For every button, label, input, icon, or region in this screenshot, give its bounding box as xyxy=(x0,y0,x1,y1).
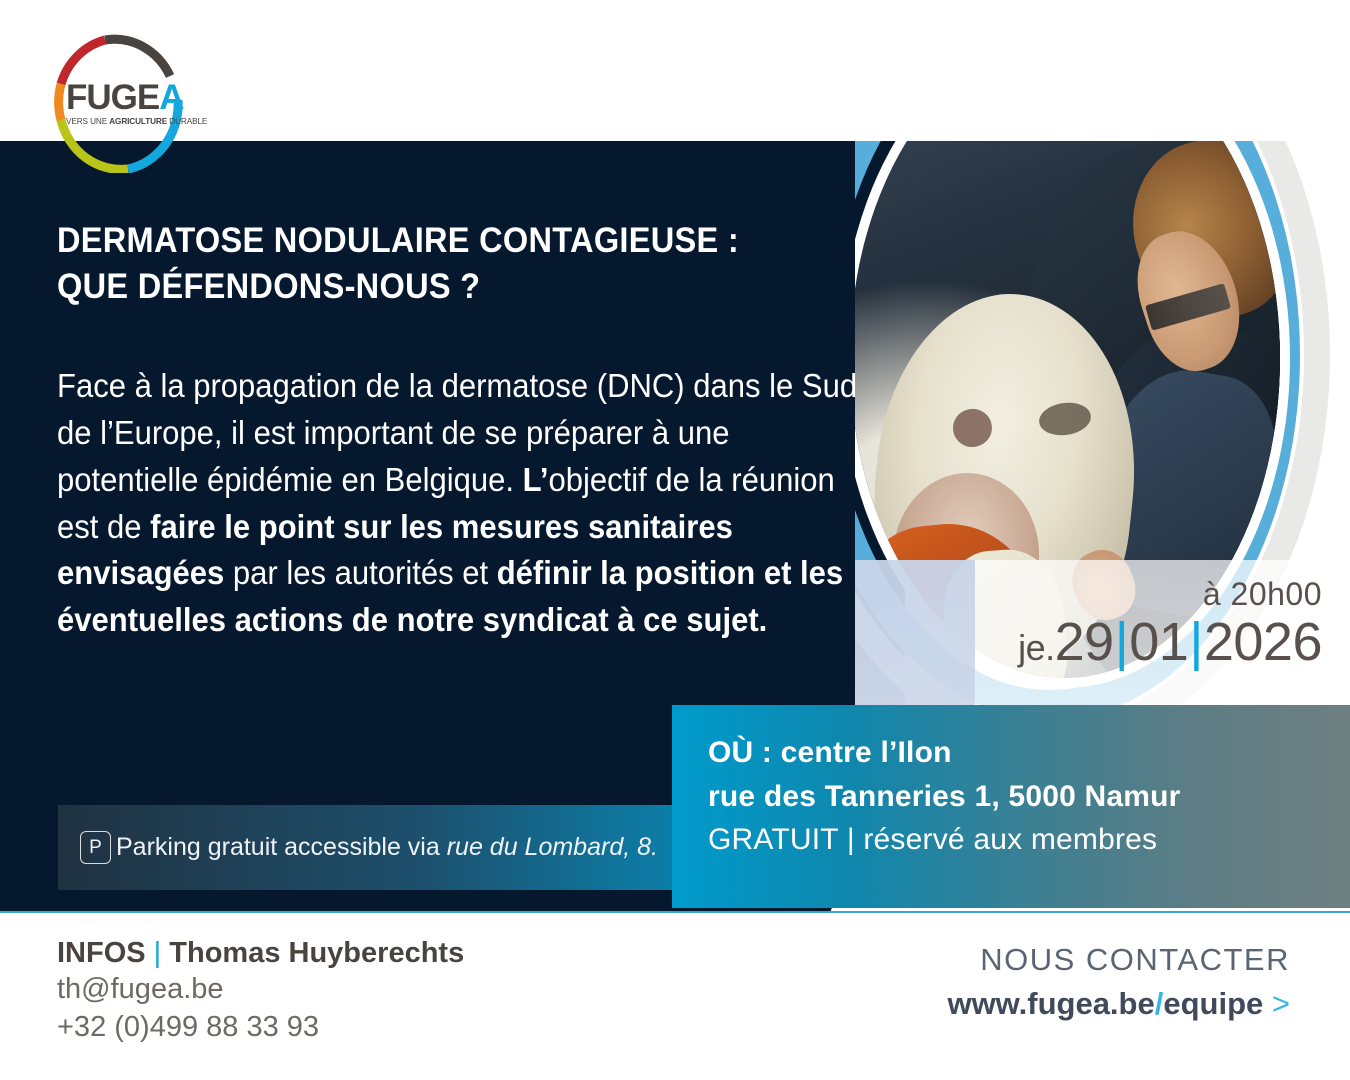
logo-tagline-suffix: DURABLE xyxy=(167,117,207,126)
chevron-right-icon: > xyxy=(1272,986,1290,1021)
footer-infos: INFOS | Thomas Huyberechts xyxy=(57,935,464,971)
footer-contact-left: INFOS | Thomas Huyberechts th@fugea.be +… xyxy=(57,935,464,1047)
page-title-line2: QUE DÉFENDONS-NOUS ? xyxy=(57,264,829,310)
footer-phone[interactable]: +32 (0)499 88 33 93 xyxy=(57,1009,464,1047)
footer-infos-bar: | xyxy=(146,937,170,969)
event-date-block: à 20h00 je.29|01|2026 xyxy=(1018,578,1322,671)
event-weekday: je. xyxy=(1018,627,1055,668)
footer-infos-name: Thomas Huyberechts xyxy=(169,937,464,969)
logo-name-main: FUGE xyxy=(66,78,159,117)
logo-tagline-bold: AGRICULTURE xyxy=(109,117,167,126)
event-month: 01 xyxy=(1129,612,1188,672)
page-title: DERMATOSE NODULAIRE CONTAGIEUSE : QUE DÉ… xyxy=(57,218,829,310)
location-address: rue des Tanneries 1, 5000 Namur xyxy=(708,775,1350,819)
date-separator-2: | xyxy=(1188,612,1204,672)
fugea-logo[interactable]: FUGEA VERS UNE AGRICULTURE DURABLE xyxy=(50,28,190,173)
parking-text: Parking gratuit accessible via rue du Lo… xyxy=(116,833,658,862)
logo-tagline-prefix: VERS UNE xyxy=(66,117,109,126)
event-year: 2026 xyxy=(1204,612,1322,672)
body-run-4: par les autorités et xyxy=(224,554,496,591)
event-day: 29 xyxy=(1055,612,1114,672)
logo-wordmark: FUGEA VERS UNE AGRICULTURE DURABLE xyxy=(66,80,198,126)
footer-contact-label: NOUS CONTACTER xyxy=(947,941,1290,980)
date-separator-1: | xyxy=(1114,612,1130,672)
footer-infos-label: INFOS xyxy=(57,937,146,969)
parking-icon: P xyxy=(80,831,111,864)
footer-accent-line xyxy=(0,911,1350,913)
logo-name-accent: A xyxy=(159,78,183,117)
footer-contact-right: NOUS CONTACTER www.fugea.be/equipe > xyxy=(947,941,1290,1024)
poster-root: FUGEA VERS UNE AGRICULTURE DURABLE RÉUNI… xyxy=(0,0,1350,1080)
location-box: OÙ : centre l’Ilon rue des Tanneries 1, … xyxy=(672,705,1350,908)
footer-website-link[interactable]: www.fugea.be/equipe > xyxy=(947,984,1290,1024)
footer-email[interactable]: th@fugea.be xyxy=(57,971,464,1009)
location-price: GRATUIT | réservé aux membres xyxy=(708,818,1350,862)
date-overlay-wash-left xyxy=(855,560,975,708)
parking-text-plain: Parking gratuit accessible via xyxy=(116,833,447,861)
page-title-line1: DERMATOSE NODULAIRE CONTAGIEUSE : xyxy=(57,218,829,264)
parking-strip: P Parking gratuit accessible via rue du … xyxy=(58,805,673,890)
event-date: je.29|01|2026 xyxy=(1018,614,1322,671)
location-venue: OÙ : centre l’Ilon xyxy=(708,731,1350,775)
logo-tagline: VERS UNE AGRICULTURE DURABLE xyxy=(66,117,198,126)
footer-bar: INFOS | Thomas Huyberechts th@fugea.be +… xyxy=(0,913,1350,1080)
parking-address: rue du Lombard, 8. xyxy=(447,833,658,861)
body-run-1: L’ xyxy=(523,461,549,498)
footer-url-part1: www.fugea.be xyxy=(947,986,1154,1021)
logo-name: FUGEA xyxy=(66,80,198,115)
event-time: à 20h00 xyxy=(1018,578,1322,610)
footer-url-part2: equipe xyxy=(1163,986,1263,1021)
body-paragraph: Face à la propagation de la dermatose (D… xyxy=(57,363,865,644)
